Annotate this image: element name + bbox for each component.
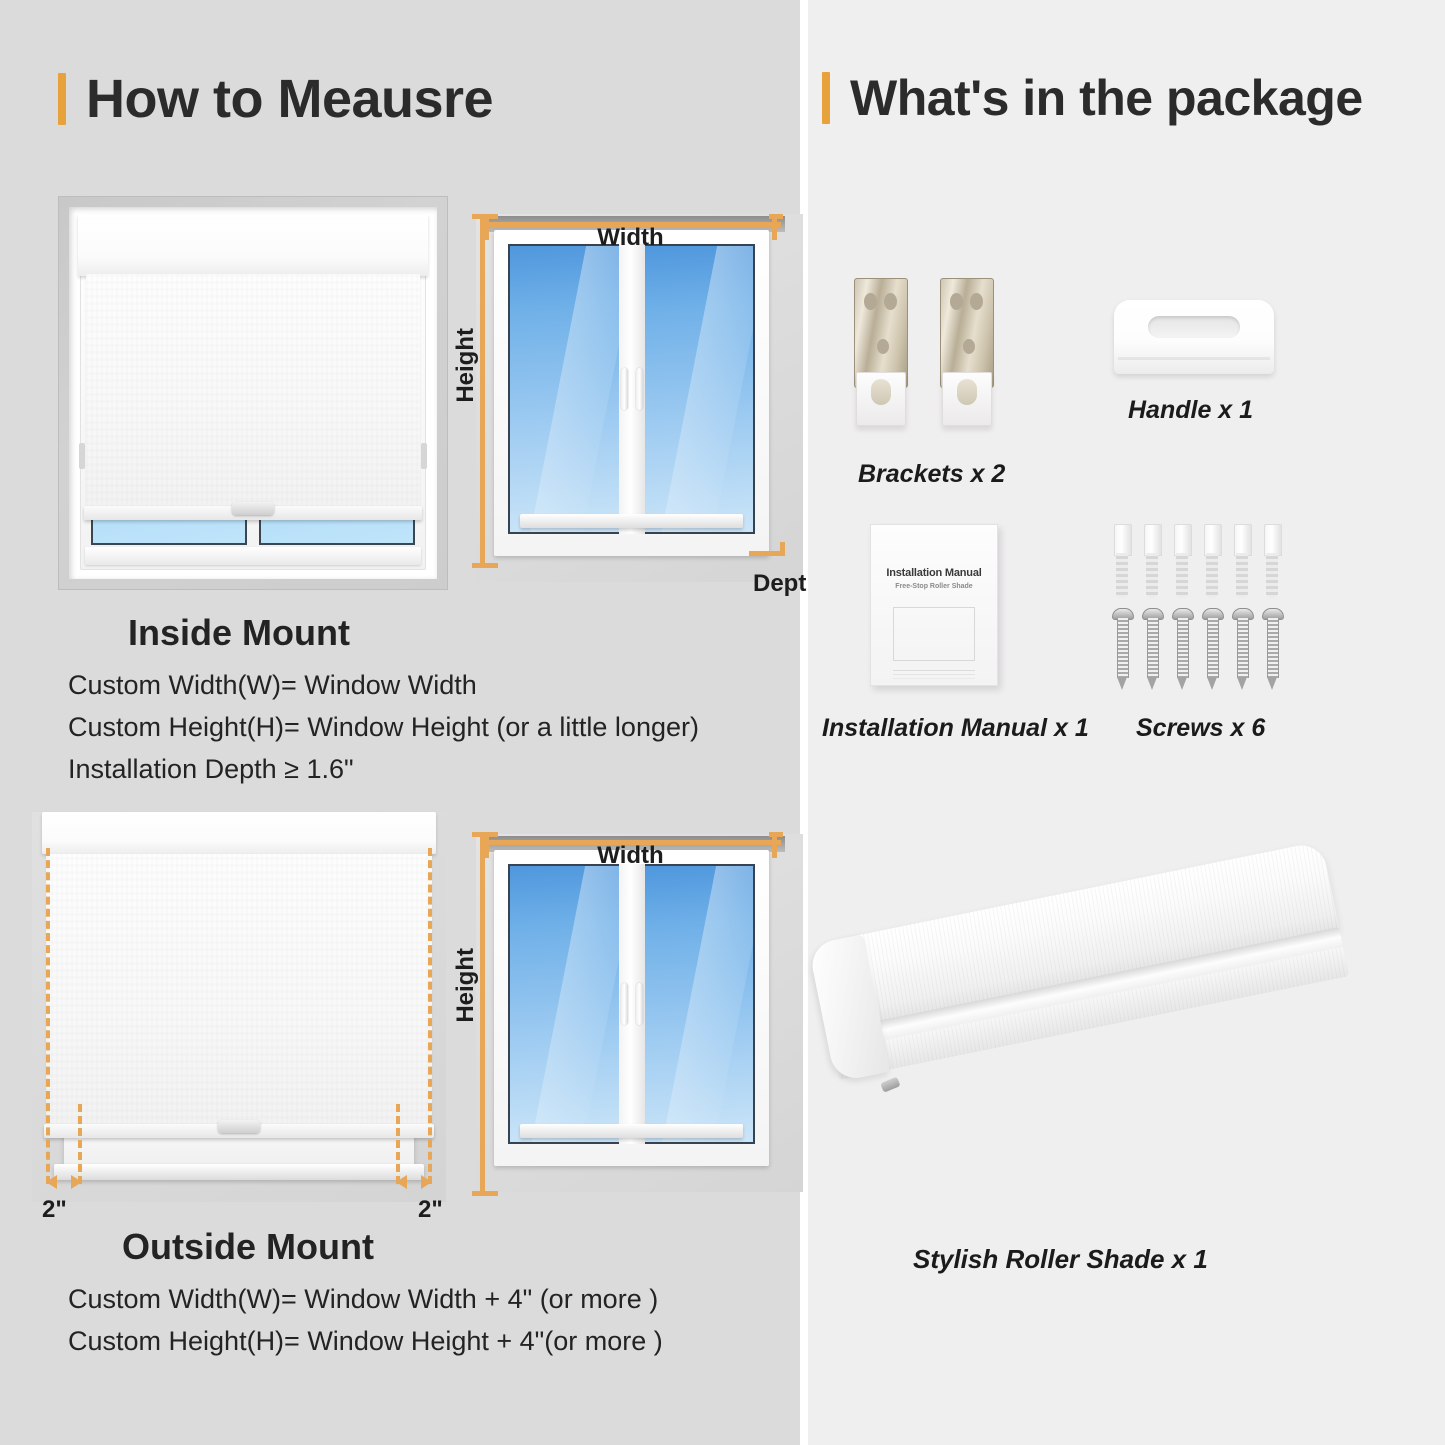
handle-image	[1114, 300, 1294, 380]
shade-pull-handle	[232, 502, 274, 515]
height-label: Height	[452, 948, 480, 1023]
window-frame	[494, 850, 769, 1166]
brackets-image	[838, 278, 1028, 438]
outside-mount-instructions: Custom Width(W)= Window Width + 4" (or m…	[68, 1282, 663, 1366]
package-heading: What's in the package	[822, 72, 1363, 124]
glass-pane-left	[508, 244, 625, 534]
outside-mount-measure-diagram: Width Height	[458, 820, 803, 1210]
window-sill	[520, 514, 743, 528]
manual-image: Installation Manual Free-Stop Roller Sha…	[870, 524, 1000, 689]
screw-icon	[1235, 608, 1249, 690]
inside-mount-measure-diagram: Width Height Depth	[458, 200, 803, 600]
manual-cover-subtitle: Free-Stop Roller Shade	[871, 583, 997, 590]
inside-mount-instructions: Custom Width(W)= Window Width Custom Hei…	[68, 668, 699, 794]
inside-mount-line-2: Custom Height(H)= Window Height (or a li…	[68, 710, 699, 745]
shade-fabric	[86, 274, 420, 508]
bracket-plastic-base	[942, 372, 992, 426]
outside-mount-line-2: Custom Height(H)= Window Height + 4"(or …	[68, 1324, 663, 1359]
overhang-inner-guide-right	[396, 1104, 400, 1184]
package-title: What's in the package	[850, 73, 1363, 123]
window-hinge-right	[421, 443, 427, 469]
wall-anchor-icon	[1204, 524, 1220, 598]
manual-cover-illustration	[893, 607, 975, 661]
wall-anchor-icon	[1114, 524, 1130, 598]
shade-headrail	[78, 214, 428, 276]
overhang-inner-guide-left	[78, 1104, 82, 1184]
bracket-plastic-base	[856, 372, 906, 426]
shade-headrail	[42, 812, 436, 854]
screw-icon	[1175, 608, 1189, 690]
roller-shade-label: Stylish Roller Shade x 1	[913, 1244, 1208, 1275]
width-mark-right-stem	[772, 832, 777, 858]
inside-mount-line-3: Installation Depth ≥ 1.6"	[68, 752, 699, 787]
handle-icon	[1114, 300, 1274, 374]
how-to-measure-title: How to Meausre	[86, 72, 493, 126]
window-sill	[85, 547, 421, 565]
manual-cover-footer-lines	[893, 670, 975, 671]
screw-icon	[1115, 608, 1129, 690]
roller-shade-icon	[812, 841, 1352, 1094]
glass-pane-left	[508, 864, 625, 1144]
bracket-icon	[850, 278, 912, 430]
inside-mount-line-1: Custom Width(W)= Window Width	[68, 668, 699, 703]
outside-mount-title: Outside Mount	[122, 1226, 374, 1268]
screw-icon	[1265, 608, 1279, 690]
screws-label: Screws x 6	[1136, 714, 1265, 743]
shade-pull-handle	[218, 1120, 260, 1133]
window-handle-right	[636, 983, 643, 1025]
infographic-page: How to Meausre	[0, 0, 1445, 1445]
screws-image	[1110, 524, 1290, 694]
manual-icon: Installation Manual Free-Stop Roller Sha…	[870, 524, 998, 686]
outside-mount-line-1: Custom Width(W)= Window Width + 4" (or m…	[68, 1282, 663, 1317]
accent-bar-icon	[822, 72, 830, 124]
window-handle-left	[621, 983, 628, 1025]
accent-bar-icon	[58, 73, 66, 125]
outside-mount-shade-illustration	[32, 812, 446, 1202]
package-contents-panel: What's in the package Brackets x 2 Handl…	[808, 0, 1445, 1445]
roller-shade-image	[813, 895, 1353, 1215]
overhang-label-right: 2"	[418, 1196, 443, 1224]
manual-cover-title: Installation Manual	[871, 567, 997, 579]
window-sill	[54, 1164, 424, 1180]
window-handle-left	[621, 368, 628, 410]
window-handle-right	[636, 368, 643, 410]
wall-anchor-icon	[1264, 524, 1280, 598]
height-mark-top-cap	[472, 214, 498, 219]
width-label: Width	[597, 842, 663, 870]
glass-pane-right	[639, 864, 756, 1144]
brackets-label: Brackets x 2	[858, 460, 1005, 489]
height-mark-bottom-cap	[472, 563, 498, 568]
screw-icon	[1145, 608, 1159, 690]
wall-anchor-icon	[1174, 524, 1190, 598]
height-label: Height	[452, 328, 480, 403]
glass-pane-right	[639, 244, 756, 534]
bracket-icon	[936, 278, 998, 430]
depth-mark-stem	[780, 542, 785, 556]
overhang-guide-right	[428, 848, 432, 1184]
shade-fabric	[46, 854, 432, 1126]
manual-label: Installation Manual x 1	[822, 714, 1089, 743]
screw-icon	[1205, 608, 1219, 690]
height-mark-bottom-cap	[472, 1191, 498, 1196]
how-to-measure-heading: How to Meausre	[58, 72, 493, 126]
window-hinge-left	[79, 443, 85, 469]
height-mark-span	[480, 216, 485, 566]
inside-mount-shade-illustration	[58, 196, 448, 590]
wall-anchor-icon	[1144, 524, 1160, 598]
center-mullion	[619, 864, 645, 1144]
height-mark-span	[480, 834, 485, 1194]
center-mullion	[619, 244, 645, 534]
overhang-label-left: 2"	[42, 1196, 67, 1224]
roller-shade-pin	[880, 1077, 900, 1093]
width-label: Width	[597, 224, 663, 252]
window-sill	[520, 1124, 743, 1138]
window-frame	[494, 230, 769, 556]
width-mark-right-stem	[772, 214, 777, 240]
wall-anchor-icon	[1234, 524, 1250, 598]
height-mark-top-cap	[472, 832, 498, 837]
overhang-guide-left	[46, 848, 50, 1184]
handle-label: Handle x 1	[1128, 396, 1253, 425]
inside-mount-title: Inside Mount	[128, 612, 350, 654]
how-to-measure-panel: How to Meausre	[0, 0, 800, 1445]
